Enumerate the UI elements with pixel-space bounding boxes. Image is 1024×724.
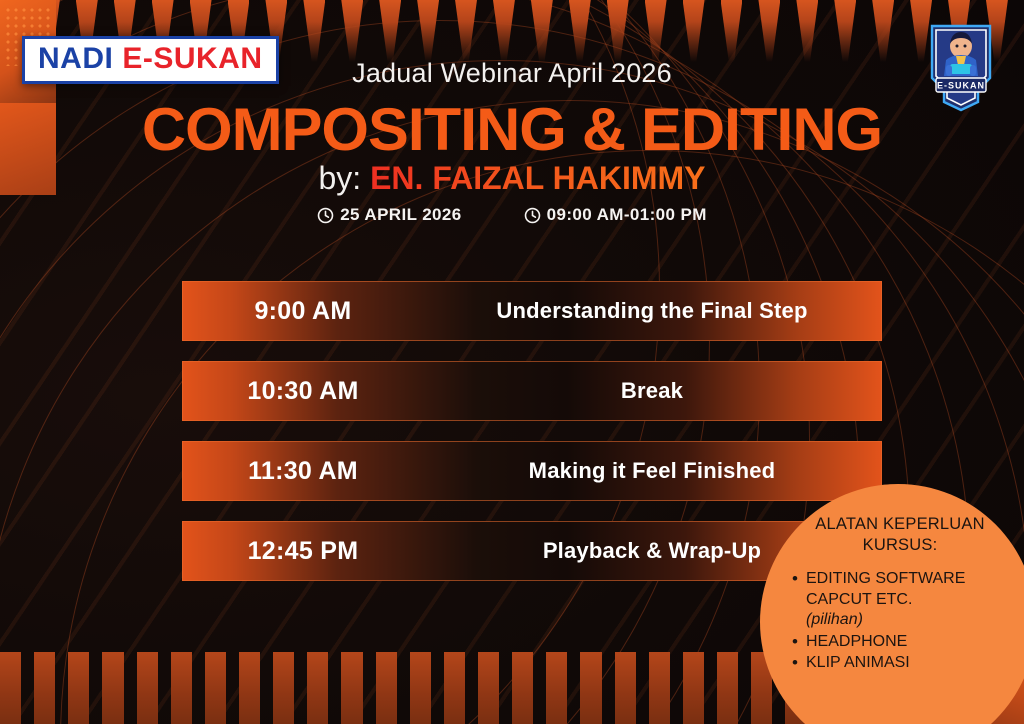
schedule-row-time: 12:45 PM: [183, 537, 423, 566]
requirement-sub: CAPCUT ETC.: [806, 590, 1014, 610]
requirements-title-line2: KURSUS:: [863, 536, 938, 554]
speaker-name: EN. FAIZAL HAKIMMY: [370, 160, 705, 196]
requirements-list-item: EDITING SOFTWARE CAPCUT ETC. (pilihan): [806, 569, 1014, 630]
schedule-row: 11:30 AM Making it Feel Finished: [182, 441, 882, 501]
schedule-row-time: 11:30 AM: [183, 457, 423, 486]
schedule-row: 10:30 AM Break: [182, 361, 882, 421]
schedule-row-topic: Break: [423, 378, 881, 404]
requirement-note: (pilihan): [806, 610, 1014, 630]
clock-icon: [524, 207, 541, 224]
speaker-byline: by: EN. FAIZAL HAKIMMY: [0, 160, 1024, 197]
course-requirements-circle: ALATAN KEPERLUAN KURSUS: EDITING SOFTWAR…: [760, 484, 1024, 724]
webinar-subtitle: Jadual Webinar April 2026: [0, 58, 1024, 89]
page-title: COMPOSITING & EDITING: [0, 95, 1024, 164]
requirement-text: KLIP ANIMASI: [806, 654, 910, 671]
requirement-text: HEADPHONE: [806, 633, 907, 650]
event-date: 25 APRIL 2026: [317, 205, 461, 225]
byline-prefix: by:: [319, 160, 362, 196]
requirements-list-item: KLIP ANIMASI: [806, 653, 1014, 673]
event-meta-row: 25 APRIL 2026 09:00 AM-01:00 PM: [0, 205, 1024, 225]
schedule-row-topic: Understanding the Final Step: [423, 298, 881, 324]
schedule-row: 9:00 AM Understanding the Final Step: [182, 281, 882, 341]
schedule-row-topic: Making it Feel Finished: [423, 458, 881, 484]
requirements-list-item: HEADPHONE: [806, 632, 1014, 652]
schedule-row-time: 9:00 AM: [183, 297, 423, 326]
event-time-text: 09:00 AM-01:00 PM: [547, 205, 707, 225]
schedule-row-time: 10:30 AM: [183, 377, 423, 406]
clock-icon: [317, 207, 334, 224]
requirements-title-line1: ALATAN KEPERLUAN: [815, 515, 984, 533]
requirements-list: EDITING SOFTWARE CAPCUT ETC. (pilihan) H…: [786, 569, 1014, 673]
requirements-title: ALATAN KEPERLUAN KURSUS:: [786, 514, 1014, 556]
requirement-text: EDITING SOFTWARE: [806, 570, 965, 587]
event-time: 09:00 AM-01:00 PM: [524, 205, 707, 225]
webinar-schedule-poster: NADI E-SUKAN E-SUKAN Jadual Webinar Apri…: [0, 0, 1024, 724]
event-date-text: 25 APRIL 2026: [340, 205, 461, 225]
